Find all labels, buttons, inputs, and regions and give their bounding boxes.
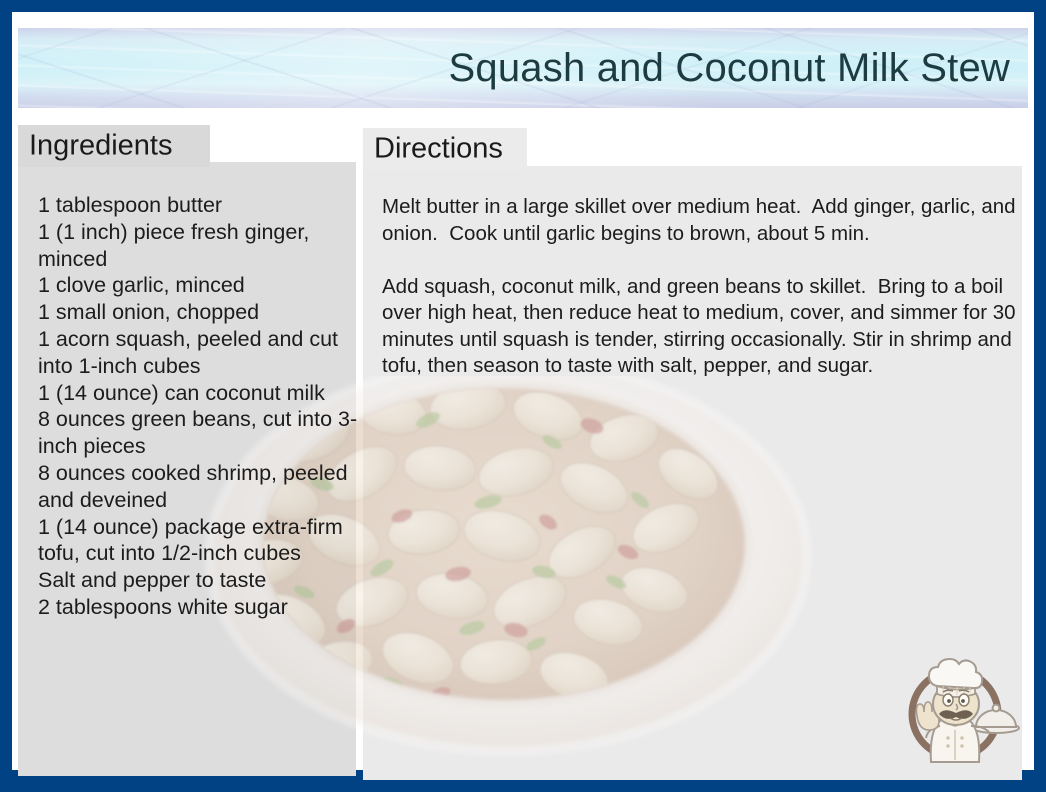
ingredients-tab-label: Ingredients xyxy=(29,130,173,163)
directions-tab: Directions xyxy=(363,128,527,170)
directions-tab-label: Directions xyxy=(374,133,503,166)
page-title: Squash and Coconut Milk Stew xyxy=(449,47,1010,89)
chef-mascot-logo xyxy=(893,638,1023,768)
recipe-slide: Squash and Coconut Milk Stew Ingredients… xyxy=(0,0,1046,792)
ingredients-tab: Ingredients xyxy=(18,125,210,167)
directions-body: Melt butter in a large skillet over medi… xyxy=(382,194,1022,380)
slide-border-top xyxy=(0,0,1046,12)
slide-border-left xyxy=(0,0,12,792)
title-banner: Squash and Coconut Milk Stew xyxy=(18,28,1028,108)
slide-border-right xyxy=(1034,0,1046,792)
ingredients-list: 1 tablespoon butter 1 (1 inch) piece fre… xyxy=(38,192,360,621)
